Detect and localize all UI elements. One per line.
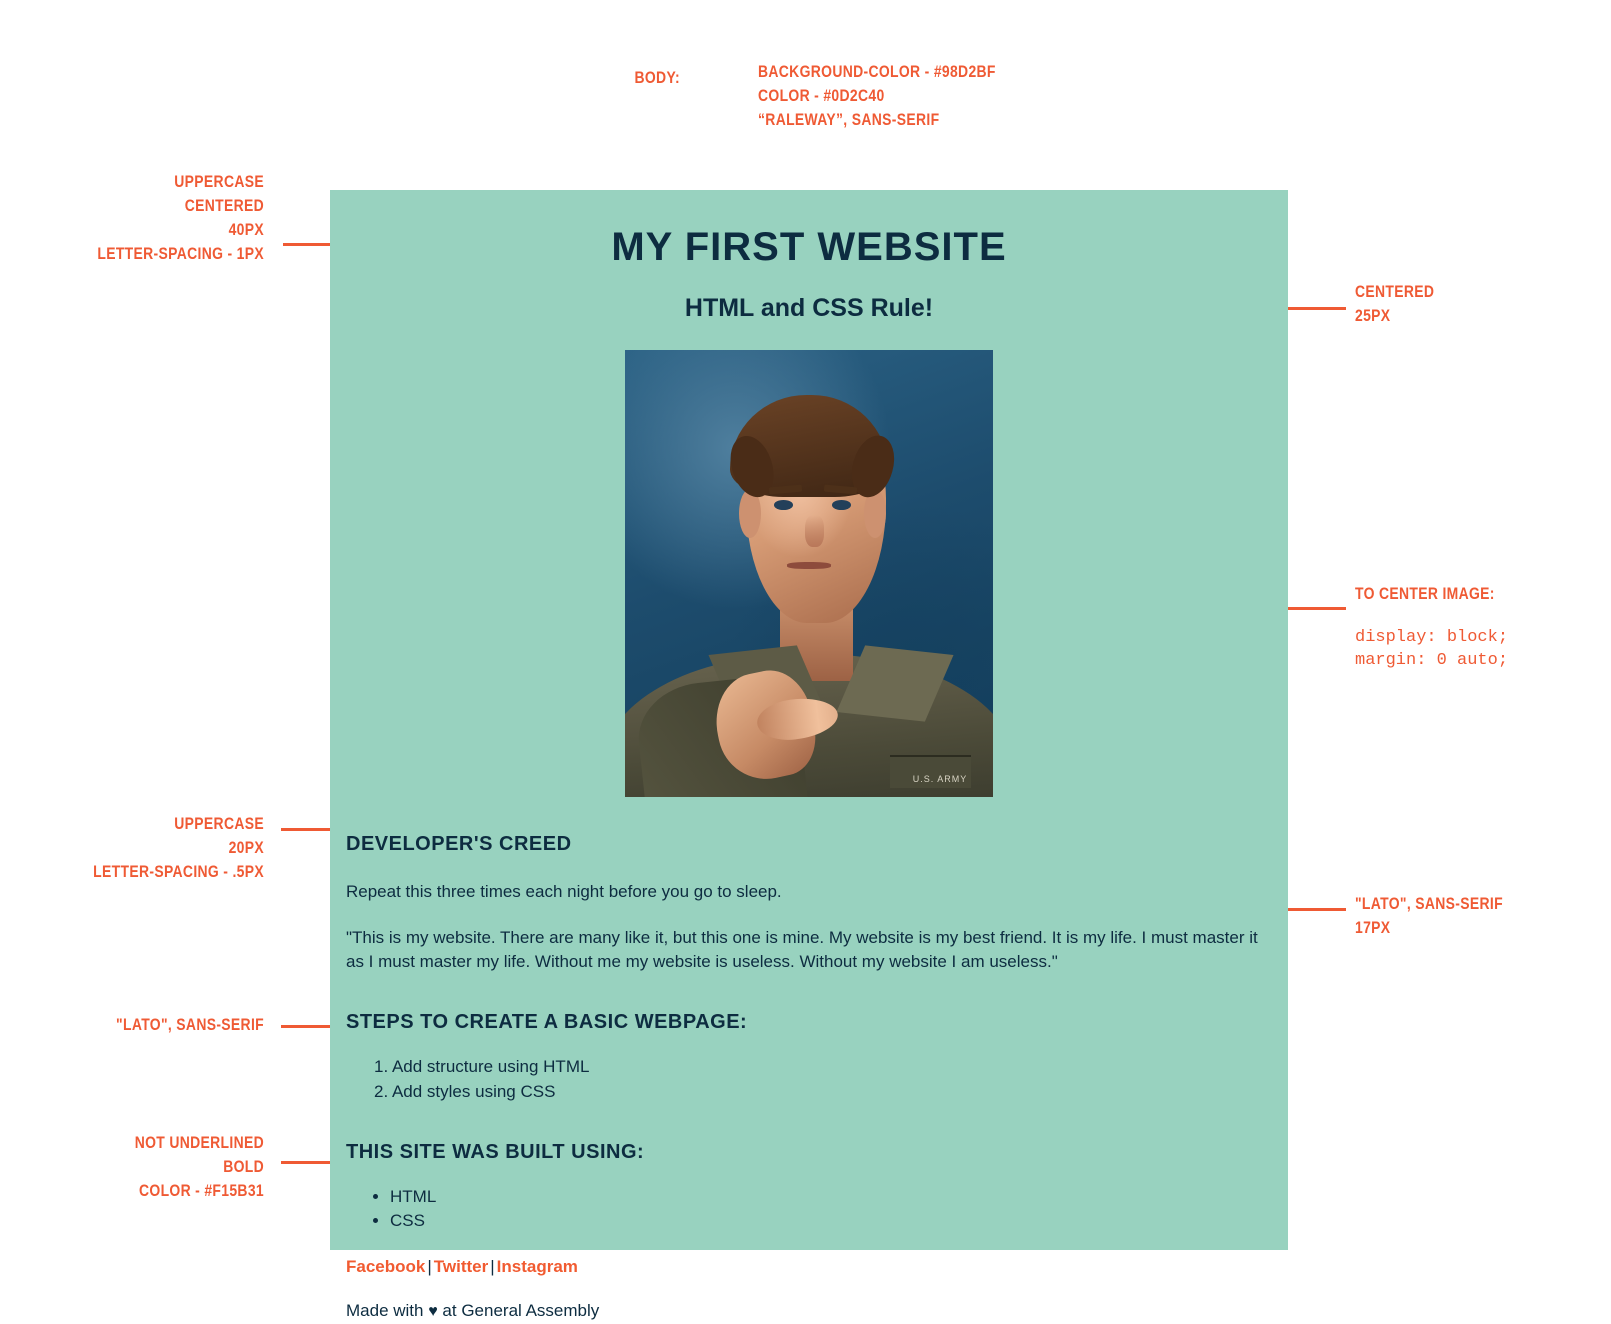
made-with-suffix: at General Assembly [438, 1301, 600, 1320]
list-item: 2. Add styles using CSS [374, 1080, 1272, 1105]
screenshot-stage: BODY: BACKGROUND-COLOR - #98D2BF COLOR -… [0, 0, 1611, 1324]
built-heading: THIS SITE WAS BUILT USING: [346, 1105, 1272, 1167]
page-body: DEVELOPER'S CREED Repeat this three time… [338, 797, 1280, 1324]
connector-line-creed-heading [281, 828, 337, 831]
hero-photo: U.S. ARMY [625, 350, 993, 797]
image-spec-code-text: display: block; margin: 0 auto; [1355, 626, 1605, 672]
steps-heading: STEPS TO CREATE A BASIC WEBPAGE: [346, 975, 1272, 1037]
photo-nose [805, 515, 823, 546]
annotation-body-label: BODY: [549, 66, 680, 90]
list-item: CSS [390, 1209, 1272, 1234]
creed-heading: DEVELOPER'S CREED [346, 797, 1272, 859]
annotation-subtitle-spec: CENTERED 25PX [1355, 280, 1560, 328]
creed-intro: Repeat this three times each night befor… [346, 859, 1272, 905]
link-instagram[interactable]: Instagram [497, 1257, 578, 1276]
photo-eye-right [832, 500, 851, 510]
annotation-body-specs: BACKGROUND-COLOR - #98D2BF COLOR - #0D2C… [758, 60, 1102, 132]
social-links: Facebook|Twitter|Instagram [346, 1234, 1272, 1280]
link-separator: | [488, 1257, 496, 1276]
page-title: MY FIRST WEBSITE [338, 190, 1280, 271]
built-with-list: HTML CSS [346, 1167, 1272, 1235]
annotation-list-spec: "LATO", SANS-SERIF [48, 1013, 264, 1037]
photo-canvas: U.S. ARMY [625, 350, 993, 797]
heart-icon: ♥ [428, 1303, 438, 1320]
annotation-image-spec-code: display: block; margin: 0 auto; [1355, 602, 1605, 696]
photo-mouth [787, 562, 831, 569]
list-item: HTML [390, 1185, 1272, 1210]
made-with-footer: Made with ♥ at General Assembly [346, 1280, 1272, 1324]
annotation-paragraph-spec: "LATO", SANS-SERIF 17PX [1355, 892, 1560, 940]
link-twitter[interactable]: Twitter [434, 1257, 488, 1276]
link-separator: | [425, 1257, 433, 1276]
photo-uniform-patch-text: U.S. ARMY [913, 774, 968, 784]
annotation-title-spec: UPPERCASE CENTERED 40PX LETTER-SPACING -… [48, 170, 264, 266]
annotation-creed-heading-spec: UPPERCASE 20PX LETTER-SPACING - .5PX [48, 812, 264, 884]
page-subtitle: HTML and CSS Rule! [338, 271, 1280, 323]
photo-eye-left [774, 500, 793, 510]
creed-body: "This is my website. There are many like… [346, 905, 1272, 975]
annotation-links-spec: NOT UNDERLINED BOLD COLOR - #F15B31 [48, 1131, 264, 1203]
website-preview-panel: MY FIRST WEBSITE HTML and CSS Rule! [330, 190, 1288, 1250]
list-item: 1. Add structure using HTML [374, 1055, 1272, 1080]
made-with-prefix: Made with [346, 1301, 428, 1320]
link-facebook[interactable]: Facebook [346, 1257, 425, 1276]
steps-list: 1. Add structure using HTML 2. Add style… [346, 1037, 1272, 1105]
